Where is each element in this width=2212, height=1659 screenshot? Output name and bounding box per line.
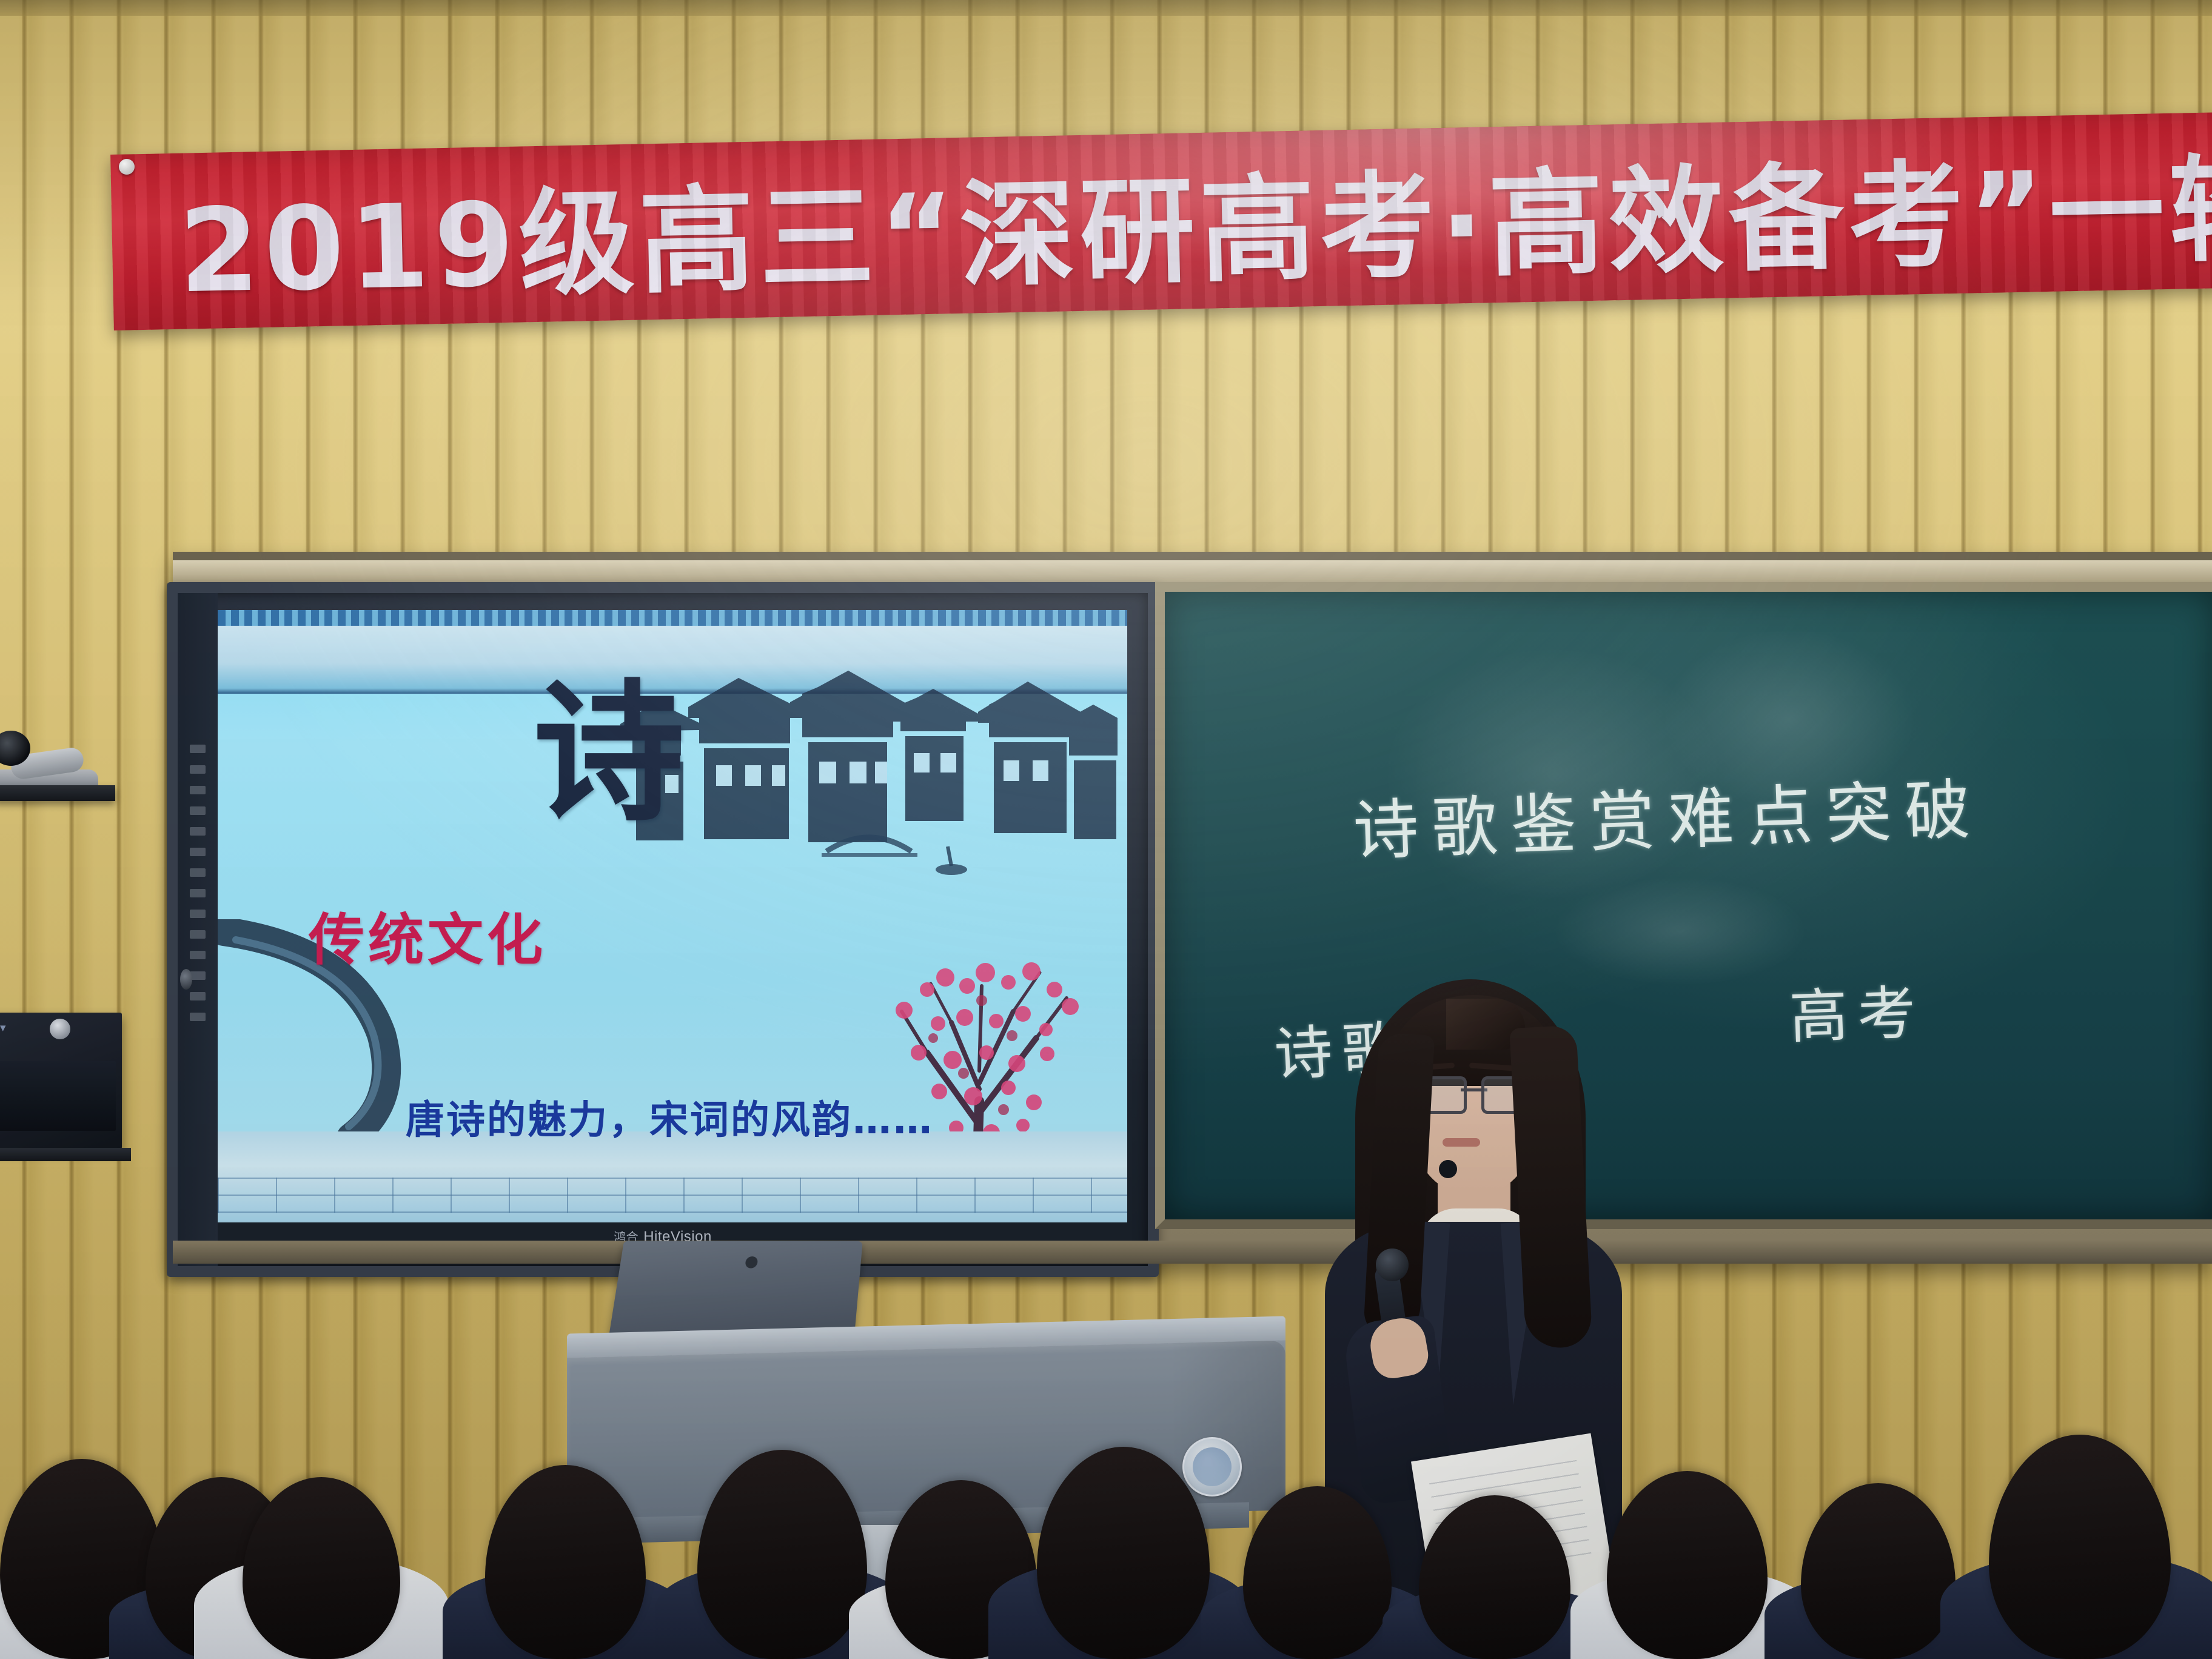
student-head — [1243, 1486, 1392, 1659]
student-head — [485, 1465, 646, 1659]
board-bottom-rail — [173, 1241, 2212, 1264]
teacher-mouth — [1443, 1138, 1480, 1147]
slide-red-heading: 传统文化 — [309, 895, 546, 976]
ptz-camera-icon — [0, 725, 104, 790]
blackboard-title: 诗歌鉴赏难点突破 — [1352, 757, 1985, 873]
student-head — [1989, 1435, 2171, 1659]
interactive-flat-panel-display[interactable]: 诗 传统文化 唐诗的魅力，宋词的风韵…… 鸿合HiteVision — [167, 582, 1159, 1277]
speaker-dial-icon[interactable] — [50, 1019, 70, 1039]
lavalier-microphone-icon — [1439, 1160, 1457, 1178]
display-knob[interactable] — [180, 969, 192, 990]
speaker-shelf — [0, 1148, 131, 1161]
student-head — [1419, 1495, 1570, 1659]
speaker-brand-mark: ▾ — [0, 1021, 6, 1035]
chalk-smudge — [1553, 877, 1808, 986]
banner-pin-left — [119, 159, 135, 175]
speaker-grill — [0, 1061, 116, 1131]
blackboard-right-note: 高考 — [1788, 965, 1927, 1054]
microphone-head-icon — [1376, 1248, 1409, 1281]
laptop-logo-icon — [745, 1256, 758, 1269]
slide-roof-tile-border — [218, 610, 1127, 626]
classroom-scene: 2019级高三“深研高考·高效备考”一轮复习展示评比 — [0, 0, 2212, 1659]
student-head — [697, 1450, 867, 1659]
student-head — [1801, 1483, 1956, 1659]
student-head — [1607, 1471, 1768, 1659]
student-audience — [0, 1404, 2212, 1659]
student-head — [1037, 1447, 1210, 1659]
presentation-slide: 诗 传统文化 唐诗的魅力，宋词的风韵…… — [218, 610, 1127, 1222]
camera-shelf — [0, 785, 115, 801]
front-board-assembly: 诗 传统文化 唐诗的魅力，宋词的风韵…… 鸿合HiteVision 诗歌鉴赏难点… — [173, 552, 2212, 1264]
wall-speaker: ▾ — [0, 1013, 122, 1149]
slide-big-character: 诗 — [533, 677, 685, 828]
slide-subtitle: 唐诗的魅力，宋词的风韵…… — [406, 1089, 934, 1145]
slide-brick-pattern — [218, 1178, 1127, 1213]
ceiling-edge — [0, 0, 2212, 16]
